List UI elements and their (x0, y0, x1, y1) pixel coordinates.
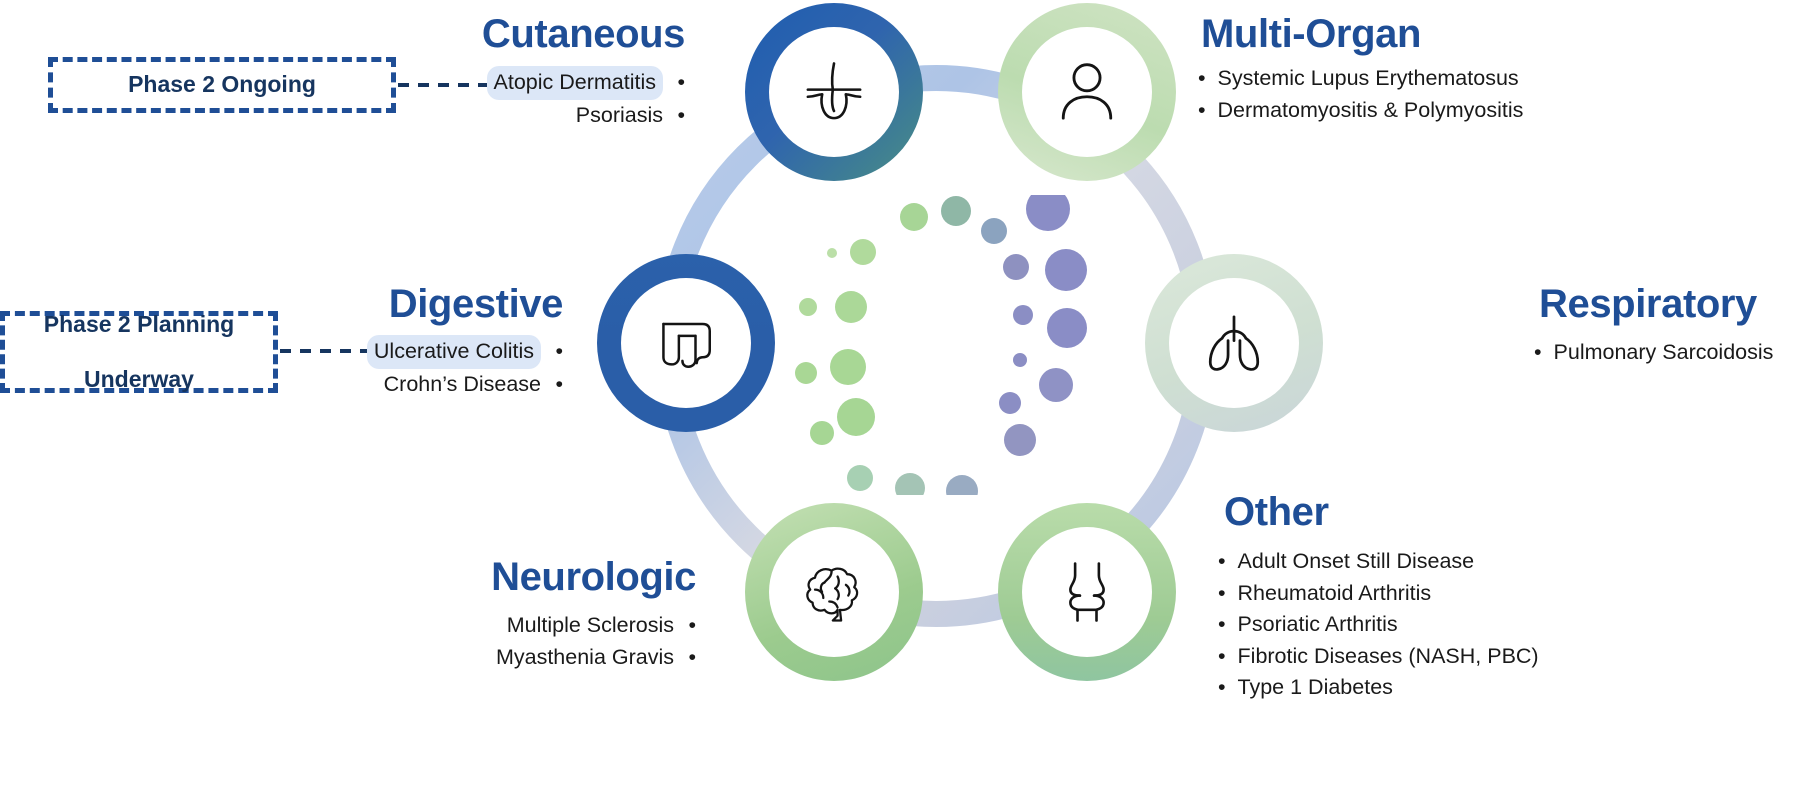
callout-label: Phase 2 Ongoing (118, 71, 326, 98)
joint-icon (1049, 554, 1125, 630)
node-icon-well (769, 27, 899, 157)
bullet-icon: • (680, 642, 696, 674)
item-label: Atopic Dermatitis (487, 66, 664, 100)
item-label: Rheumatoid Arthritis (1238, 578, 1432, 610)
node-cutaneous[interactable] (745, 3, 923, 181)
callout-phase-2-ongoing[interactable]: Phase 2 Ongoing (48, 57, 396, 113)
node-icon-well (1022, 527, 1152, 657)
brain-icon (796, 554, 872, 630)
category-list-neurologic: Multiple Sclerosis • Myasthenia Gravis • (486, 610, 696, 673)
category-list-other: •Adult Onset Still Disease •Rheumatoid A… (1218, 546, 1539, 704)
list-item: •Fibrotic Diseases (NASH, PBC) (1218, 641, 1539, 673)
bullet-icon: • (1534, 337, 1542, 369)
item-label: Systemic Lupus Erythematosus (1218, 63, 1519, 95)
list-item: Ulcerative Colitis • (363, 335, 563, 369)
bullet-icon: • (1218, 609, 1226, 641)
item-label: Type 1 Diabetes (1238, 672, 1393, 704)
category-title-respiratory: Respiratory (1539, 282, 1757, 327)
item-label: Psoriasis (576, 103, 663, 127)
callout-phase-2-planning-underway[interactable]: Phase 2 Planning Underway (0, 311, 278, 393)
list-item: Atopic Dermatitis • (485, 66, 685, 100)
bullet-icon: • (680, 610, 696, 642)
node-icon-well (621, 278, 751, 408)
callout-label: Phase 2 Planning Underway (24, 311, 254, 392)
node-respiratory[interactable] (1145, 254, 1323, 432)
item-label: Dermatomyositis & Polymyositis (1218, 95, 1524, 127)
item-label: Myasthenia Gravis (496, 645, 674, 669)
list-item: •Pulmonary Sarcoidosis (1534, 337, 1773, 369)
bullet-icon: • (669, 100, 685, 132)
list-item: •Adult Onset Still Disease (1218, 546, 1539, 578)
bullet-icon: • (1198, 95, 1206, 127)
molecule-dot-swirl (790, 195, 1090, 495)
callout-label-line-2: Underway (34, 366, 244, 393)
bullet-icon: • (547, 369, 563, 401)
list-item: •Systemic Lupus Erythematosus (1198, 63, 1523, 95)
item-label: Adult Onset Still Disease (1238, 546, 1475, 578)
category-title-digestive: Digestive (389, 282, 563, 327)
item-label: Multiple Sclerosis (507, 613, 674, 637)
list-item: •Rheumatoid Arthritis (1218, 578, 1539, 610)
category-title-other: Other (1224, 490, 1329, 535)
callout-label-line-1: Phase 2 Planning (34, 311, 244, 338)
bullet-icon: • (669, 67, 685, 99)
item-label: Pulmonary Sarcoidosis (1554, 337, 1774, 369)
item-label: Ulcerative Colitis (367, 335, 541, 369)
list-item: Myasthenia Gravis • (486, 642, 696, 674)
hair-follicle-icon (796, 54, 872, 130)
infographic-canvas: Phase 2 Ongoing Phase 2 Planning Underwa… (0, 0, 1813, 802)
node-icon-well (1022, 27, 1152, 157)
list-item: Multiple Sclerosis • (486, 610, 696, 642)
node-icon-well (769, 527, 899, 657)
category-list-digestive: Ulcerative Colitis • Crohn’s Disease • (363, 335, 563, 400)
node-multiorgan[interactable] (998, 3, 1176, 181)
category-title-multiorgan: Multi-Organ (1201, 12, 1421, 57)
category-list-respiratory: •Pulmonary Sarcoidosis (1534, 337, 1773, 369)
node-digestive[interactable] (597, 254, 775, 432)
item-label: Psoriatic Arthritis (1238, 609, 1398, 641)
category-list-cutaneous: Atopic Dermatitis • Psoriasis • (485, 66, 685, 131)
list-item: •Type 1 Diabetes (1218, 672, 1539, 704)
node-other[interactable] (998, 503, 1176, 681)
bullet-icon: • (1218, 578, 1226, 610)
list-item: Psoriasis • (485, 100, 685, 132)
bullet-icon: • (1198, 63, 1206, 95)
bullet-icon: • (547, 336, 563, 368)
lungs-icon (1196, 305, 1272, 381)
category-list-multiorgan: •Systemic Lupus Erythematosus •Dermatomy… (1198, 63, 1523, 126)
category-title-neurologic: Neurologic (491, 555, 696, 600)
list-item: •Psoriatic Arthritis (1218, 609, 1539, 641)
intestine-icon (648, 305, 724, 381)
bullet-icon: • (1218, 546, 1226, 578)
person-icon (1049, 54, 1125, 130)
category-title-cutaneous: Cutaneous (482, 12, 685, 57)
item-label: Fibrotic Diseases (NASH, PBC) (1238, 641, 1539, 673)
list-item: •Dermatomyositis & Polymyositis (1198, 95, 1523, 127)
node-icon-well (1169, 278, 1299, 408)
bullet-icon: • (1218, 641, 1226, 673)
node-neurologic[interactable] (745, 503, 923, 681)
list-item: Crohn’s Disease • (363, 369, 563, 401)
bullet-icon: • (1218, 672, 1226, 704)
item-label: Crohn’s Disease (384, 372, 541, 396)
